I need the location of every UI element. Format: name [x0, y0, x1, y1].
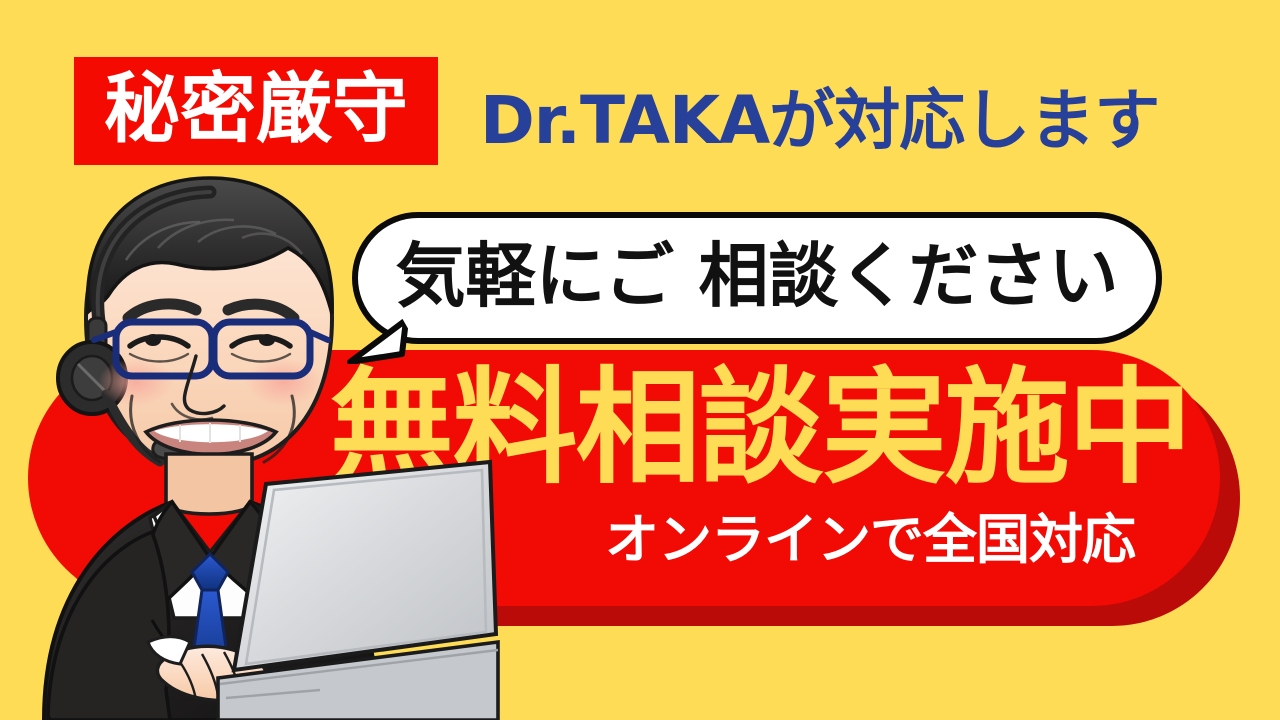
banner-subheadline: オンラインで全国対応	[560, 505, 1180, 575]
laptop-icon	[218, 462, 498, 720]
support-person-illustration	[20, 150, 540, 720]
confidentiality-badge-label: 秘密厳守	[104, 71, 408, 147]
neck-shape	[166, 454, 252, 514]
promo-banner-canvas: 秘密厳守 Dr.TAKAが対応します	[0, 0, 1280, 720]
page-title: Dr.TAKAが対応します	[480, 78, 1170, 164]
page-title-text: Dr.TAKAが対応します	[480, 88, 1159, 154]
banner-subheadline-text: オンラインで全国対応	[605, 513, 1135, 567]
confidentiality-badge: 秘密厳守	[74, 57, 438, 165]
